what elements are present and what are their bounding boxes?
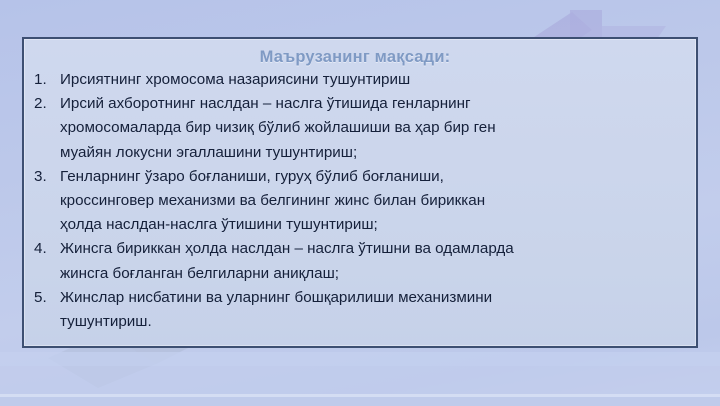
footer-band-upper [0,352,720,366]
slide-canvas: Маърузанинг мақсади: 1. Ирсиятнинг хромо… [0,0,720,406]
list-item-number: 1. [24,68,60,92]
footer-band-middle [0,366,720,396]
list-item-text: Ирсиятнинг хромосома назариясини тушунти… [60,68,686,92]
text-line: тушунтириш. [60,310,682,334]
list-item: 1. Ирсиятнинг хромосома назариясини тушу… [24,68,686,92]
text-line: кроссинговер механизми ва белгининг жинс… [60,189,682,213]
footer-band-lower [0,397,720,406]
list-item: 4. Жинсга бириккан ҳолда наслдан – наслг… [24,237,686,285]
text-line: Генларнинг ўзаро боғланиши, гуруҳ бўлиб … [60,165,682,189]
goals-list: 1. Ирсиятнинг хромосома назариясини тушу… [24,68,686,334]
list-item-text: Ирсий ахборотнинг наслдан – наслга ўтиши… [60,92,686,165]
list-item-number: 5. [24,286,60,310]
text-line: ҳолда наслдан-наслга ўтишини тушунтириш; [60,213,682,237]
content-textbox: Маърузанинг мақсади: 1. Ирсиятнинг хромо… [22,37,698,348]
list-item-number: 3. [24,165,60,189]
list-item: 5. Жинслар нисбатини ва уларнинг бошқари… [24,286,686,334]
text-line: хромосомаларда бир чизиқ бўлиб жойлашиши… [60,116,682,140]
list-item-number: 2. [24,92,60,116]
list-item: 2. Ирсий ахборотнинг наслдан – наслга ўт… [24,92,686,165]
footer-divider-line [0,394,720,397]
text-line: муайян локусни эгаллашини тушунтириш; [60,141,682,165]
text-line: жинсга боғланган белгиларни аниқлаш; [60,262,682,286]
text-line: Жинсга бириккан ҳолда наслдан – наслга ў… [60,237,682,261]
text-line: Жинслар нисбатини ва уларнинг бошқарилиш… [60,286,682,310]
box-title: Маърузанинг мақсади: [24,48,686,67]
list-item-text: Жинсга бириккан ҳолда наслдан – наслга ў… [60,237,686,285]
text-line: Ирсиятнинг хромосома назариясини тушунти… [60,68,682,92]
text-line: Ирсий ахборотнинг наслдан – наслга ўтиши… [60,92,682,116]
list-item-text: Жинслар нисбатини ва уларнинг бошқарилиш… [60,286,686,334]
list-item: 3. Генларнинг ўзаро боғланиши, гуруҳ бўл… [24,165,686,238]
list-item-text: Генларнинг ўзаро боғланиши, гуруҳ бўлиб … [60,165,686,238]
list-item-number: 4. [24,237,60,261]
